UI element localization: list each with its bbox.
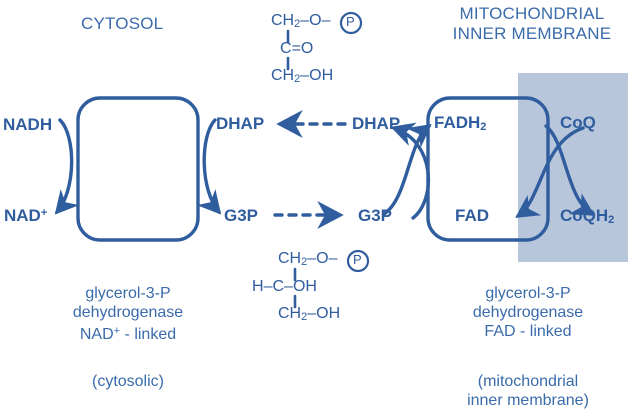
g3p-r1-bond: –	[307, 250, 316, 267]
dhap-r2-doublebond: =	[292, 40, 301, 57]
diagram-graphics	[0, 0, 628, 420]
g3p-to-dhap-arrow	[394, 128, 428, 218]
left-enzyme-line2: dehydrogenase	[28, 303, 228, 322]
right-enzyme-line3: FAD - linked	[428, 322, 628, 341]
g3p-structure-row3: CH2–OH	[278, 305, 340, 323]
dhap-r1-bond2: –	[322, 12, 331, 29]
dhap-r1-bond: –	[300, 12, 309, 29]
label-dhap-mitochondrial: DHAP	[352, 114, 400, 134]
dhap-r2-carbon: C	[280, 40, 292, 57]
label-fadh2-base: FADH	[434, 113, 480, 132]
label-fadh2-sub: 2	[480, 121, 486, 133]
label-coqh2: CoQH2	[560, 206, 614, 226]
g3p-r1-oxygen: O	[316, 250, 328, 267]
label-coqh2-base: CoQH	[560, 206, 608, 225]
g3p-r1-carbon: CH	[278, 250, 301, 267]
left-enzyme-nad: NAD	[80, 326, 114, 343]
left-location-caption: (cytosolic)	[28, 372, 228, 391]
label-dhap-cytosol: DHAP	[216, 114, 264, 134]
left-enzyme-line3: NAD+ - linked	[28, 322, 228, 344]
label-nad-plus-sup: +	[41, 207, 47, 219]
g3p-r3-carbon: CH	[278, 305, 301, 322]
dhap-phosphate-letter: P	[346, 14, 355, 29]
g3p-r2-hydroxyl: OH	[293, 278, 317, 295]
dhap-r3-carbon: CH	[271, 67, 294, 84]
g3p-r3-bond: –	[307, 305, 316, 322]
label-fadh2: FADH2	[434, 113, 486, 133]
left-enzyme-line1: glycerol-3-P	[28, 284, 228, 303]
label-nadh: NADH	[3, 115, 52, 135]
g3p-r2-hydrogen: H	[252, 278, 264, 295]
right-enzyme-line2: dehydrogenase	[428, 303, 628, 322]
heading-mitochondrial-line1: MITOCHONDRIAL	[441, 4, 623, 24]
label-coqh2-sub: 2	[608, 214, 614, 226]
dhap-structure-row3: CH2–OH	[271, 67, 333, 85]
g3p-structure-row1: CH2–O–	[278, 250, 338, 268]
g3p-r2-bond2: –	[284, 278, 293, 295]
dhap-r3-hydroxyl: OH	[309, 67, 333, 84]
nadh-to-nadplus-arrow	[57, 120, 72, 212]
g3p-r2-carbon: C	[272, 278, 284, 295]
g3p-r3-hydroxyl: OH	[316, 305, 340, 322]
dhap-structure-row2: C=O	[280, 40, 313, 58]
right-enzyme-line1: glycerol-3-P	[428, 284, 628, 303]
label-g3p-mitochondrial: G3P	[358, 206, 392, 226]
label-g3p-cytosol: G3P	[224, 206, 258, 226]
diagram-canvas: CYTOSOL MITOCHONDRIAL INNER MEMBRANE NAD…	[0, 0, 628, 420]
right-location-line1: (mitochondrial	[428, 372, 628, 391]
dhap-structure-row1: CH2–O–	[271, 12, 331, 30]
dhap-r1-oxygen: O	[309, 12, 321, 29]
dhap-r2-oxygen: O	[301, 40, 313, 57]
right-location-line2: inner membrane)	[428, 391, 628, 410]
g3p-r1-bond2: –	[329, 250, 338, 267]
g3p-structure-row2: H–C–OH	[252, 278, 317, 296]
label-coq: CoQ	[560, 113, 596, 133]
left-enzyme-linked: - linked	[120, 326, 176, 343]
g3p-phosphate-letter: P	[353, 252, 362, 267]
heading-cytosol: CYTOSOL	[81, 14, 163, 34]
dhap-r1-carbon: CH	[271, 12, 294, 29]
heading-mitochondrial-line2: INNER MEMBRANE	[441, 24, 623, 44]
label-nad-plus: NAD+	[4, 206, 47, 226]
label-nad-plus-base: NAD	[4, 206, 41, 225]
fad-to-fadh2-arrow	[384, 126, 429, 214]
dhap-r3-bond: –	[300, 67, 309, 84]
label-fad: FAD	[455, 206, 489, 226]
left-reaction-loop	[78, 98, 198, 240]
